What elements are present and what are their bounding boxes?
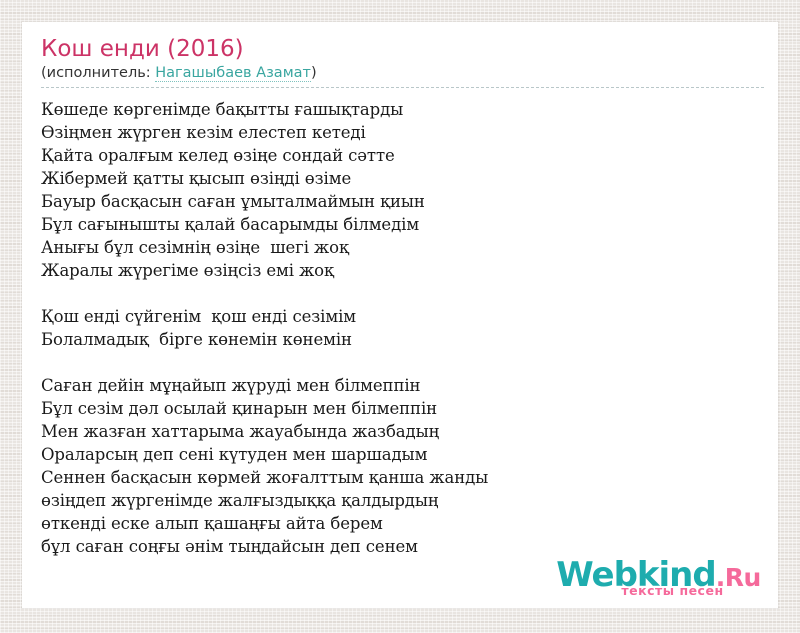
site-logo[interactable]: Webkind.Ru тексты песен <box>551 558 766 598</box>
artist-line: (исполнитель: Нагашыбаев Азамат) <box>41 63 764 88</box>
artist-prefix-label: (исполнитель: <box>41 65 155 81</box>
lyrics-text: Көшеде көргенімде бақытты ғашықтарды Өзі… <box>41 98 764 558</box>
logo-subtitle: тексты песен <box>565 585 778 598</box>
artist-link[interactable]: Нагашыбаев Азамат <box>155 65 311 82</box>
artist-suffix-label: ) <box>311 65 317 81</box>
lyrics-card: Кош енди (2016) (исполнитель: Нагашыбаев… <box>22 22 778 608</box>
card-content: Кош енди (2016) (исполнитель: Нагашыбаев… <box>41 35 764 558</box>
page-title: Кош енди (2016) <box>41 35 764 63</box>
